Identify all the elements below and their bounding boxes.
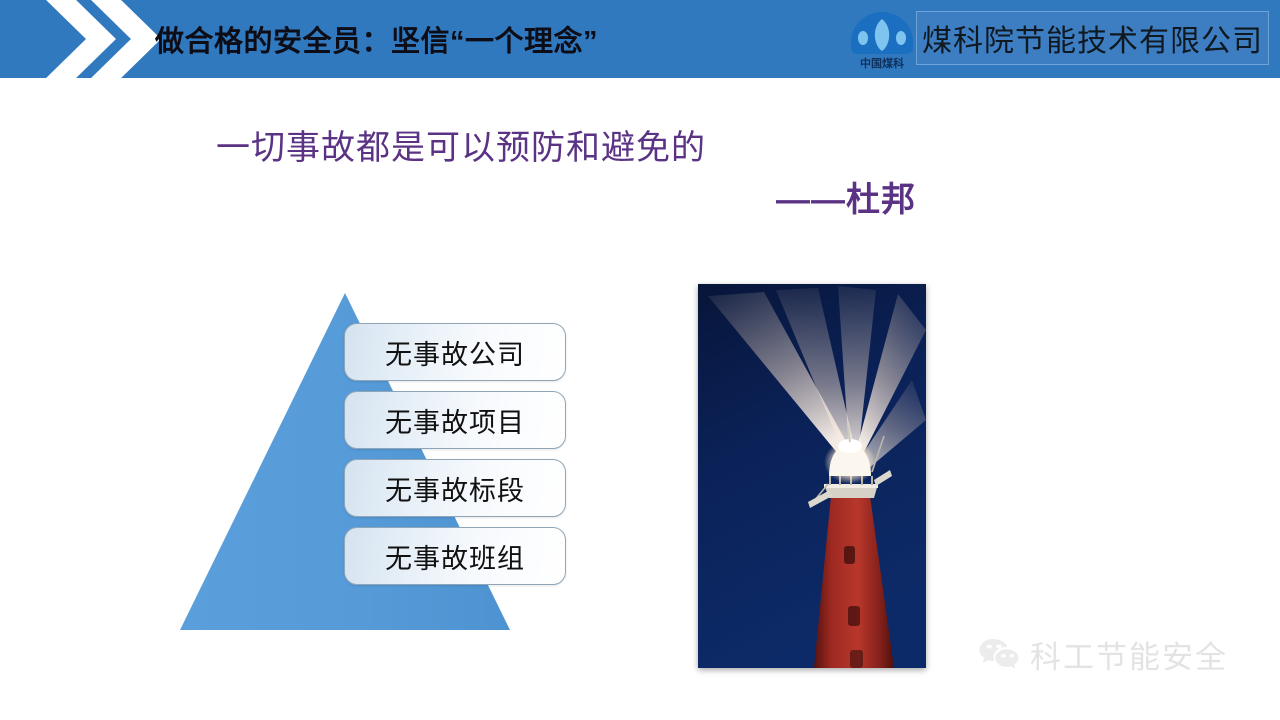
svg-text:中国煤科: 中国煤科 [860,56,904,70]
wechat-icon [978,636,1020,672]
slide-header-band: 做合格的安全员：坚信“一个理念” 中国煤科 煤科院节能技术有限公司 [0,0,1280,78]
watermark-label: 科工节能安全 [1030,632,1228,677]
pyramid-level-2[interactable]: 无事故项目 [344,391,566,449]
quote-attribution: ——杜邦 [776,172,916,221]
lighthouse-photo [698,284,926,668]
pyramid-level-label: 无事故公司 [385,333,525,372]
pyramid-diagram: 无事故公司 无事故项目 无事故标段 无事故班组 [170,285,580,640]
company-name-box: 煤科院节能技术有限公司 [916,11,1269,65]
pyramid-level-label: 无事故班组 [385,537,525,576]
chevron-group [42,0,172,78]
pyramid-level-4[interactable]: 无事故班组 [344,527,566,585]
pyramid-level-label: 无事故标段 [385,469,525,508]
quote-text: 一切事故都是可以预防和避免的 [216,120,706,169]
pyramid-level-1[interactable]: 无事故公司 [344,323,566,381]
china-coal-logo-icon: 中国煤科 [846,8,918,70]
company-name-label: 煤科院节能技术有限公司 [922,16,1263,60]
pyramid-label-stack: 无事故公司 无事故项目 无事故标段 无事故班组 [344,323,566,595]
pyramid-level-label: 无事故项目 [385,401,525,440]
page-title: 做合格的安全员：坚信“一个理念” [155,0,598,78]
wechat-watermark: 科工节能安全 [978,632,1246,676]
chevron-right-icon [87,0,161,78]
pyramid-level-3[interactable]: 无事故标段 [344,459,566,517]
